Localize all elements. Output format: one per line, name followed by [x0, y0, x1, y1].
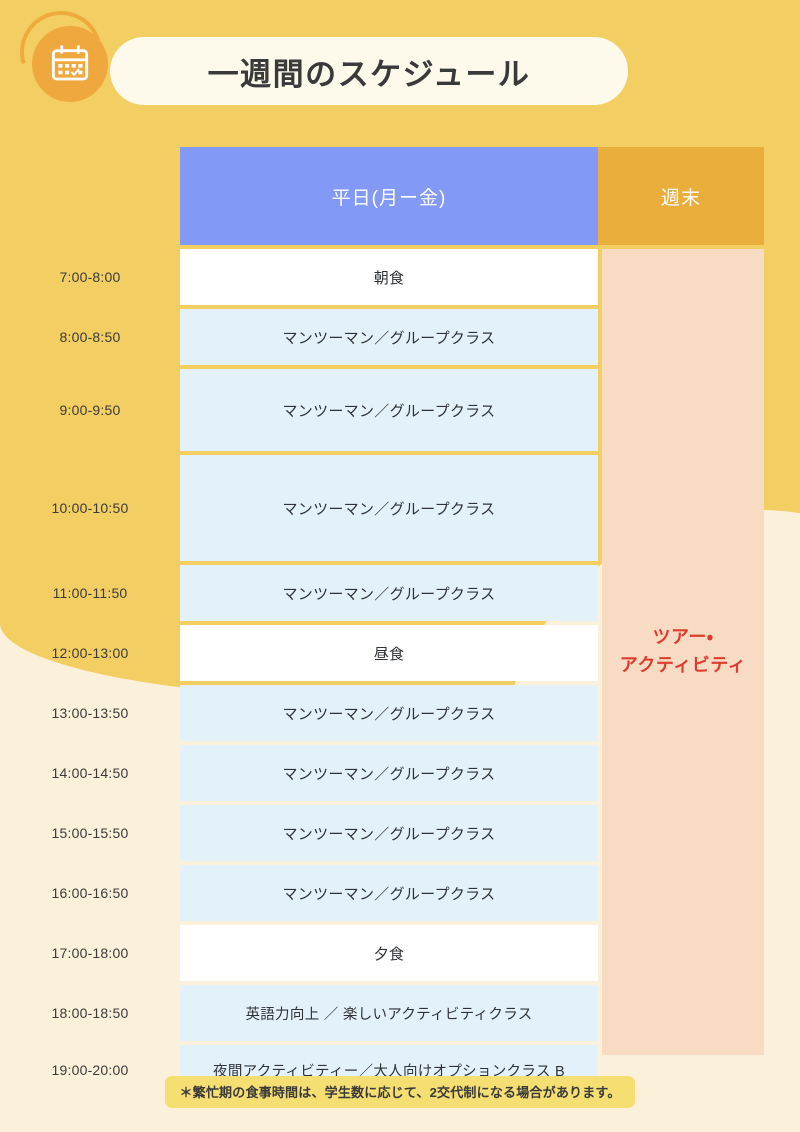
- column-header-weekday-label: 平日(月ー金): [332, 183, 447, 210]
- page-header: 一週間のスケジュール: [0, 0, 800, 140]
- meal-cell: 昼食: [180, 625, 598, 681]
- footer-note: ＊繁忙期の食事時間は、学生数に応じて、2交代制になる場合があります。: [165, 1076, 634, 1108]
- time-label: 9:00-9:50: [0, 369, 180, 451]
- table-row: 14:00-14:50マンツーマン／グループクラス: [0, 745, 598, 801]
- class-cell: マンツーマン／グループクラス: [180, 865, 598, 921]
- class-cell: マンツーマン／グループクラス: [180, 369, 598, 451]
- table-row: 18:00-18:50英語力向上 ／ 楽しいアクティビティクラス: [0, 985, 598, 1041]
- class-cell: 英語力向上 ／ 楽しいアクティビティクラス: [180, 985, 598, 1041]
- class-cell: マンツーマン／グループクラス: [180, 805, 598, 861]
- class-cell: マンツーマン／グループクラス: [180, 745, 598, 801]
- time-label: 15:00-15:50: [0, 805, 180, 861]
- class-cell: マンツーマン／グループクラス: [180, 309, 598, 365]
- class-cell: マンツーマン／グループクラス: [180, 685, 598, 741]
- time-label: 10:00-10:50: [0, 455, 180, 561]
- time-label: 18:00-18:50: [0, 985, 180, 1041]
- schedule-page: 一週間のスケジュール 平日(月ー金) 週末 ツアー・ アクティビティ 7:00-…: [0, 0, 800, 1132]
- class-cell: マンツーマン／グループクラス: [180, 565, 598, 621]
- time-label: 16:00-16:50: [0, 865, 180, 921]
- table-row: 9:00-9:50マンツーマン／グループクラス: [0, 369, 598, 451]
- table-row: 11:00-11:50マンツーマン／グループクラス: [0, 565, 598, 621]
- table-row: 16:00-16:50マンツーマン／グループクラス: [0, 865, 598, 921]
- class-cell: マンツーマン／グループクラス: [180, 455, 598, 561]
- meal-cell: 朝食: [180, 249, 598, 305]
- time-label: 11:00-11:50: [0, 565, 180, 621]
- column-header-weekend-label: 週末: [661, 183, 701, 210]
- column-header-weekday: 平日(月ー金): [180, 147, 598, 245]
- time-label: 13:00-13:50: [0, 685, 180, 741]
- time-label: 8:00-8:50: [0, 309, 180, 365]
- table-header-row: 平日(月ー金) 週末: [180, 147, 764, 245]
- meal-cell: 夕食: [180, 925, 598, 981]
- time-label: 14:00-14:50: [0, 745, 180, 801]
- page-title: 一週間のスケジュール: [208, 49, 531, 94]
- schedule-rows: 7:00-8:00朝食8:00-8:50マンツーマン／グループクラス9:00-9…: [0, 249, 800, 1095]
- calendar-icon: [50, 44, 90, 84]
- table-row: 12:00-13:00昼食: [0, 625, 598, 681]
- footer-note-wrap: ＊繁忙期の食事時間は、学生数に応じて、2交代制になる場合があります。: [0, 1076, 800, 1108]
- calendar-icon-badge: [32, 26, 108, 102]
- page-title-pill: 一週間のスケジュール: [110, 37, 628, 105]
- table-row: 17:00-18:00夕食: [0, 925, 598, 981]
- column-header-weekend: 週末: [598, 147, 764, 245]
- time-label: 12:00-13:00: [0, 625, 180, 681]
- time-label: 17:00-18:00: [0, 925, 180, 981]
- time-label: 7:00-8:00: [0, 249, 180, 305]
- table-row: 10:00-10:50マンツーマン／グループクラス: [0, 455, 598, 561]
- table-row: 7:00-8:00朝食: [0, 249, 598, 305]
- table-row: 8:00-8:50マンツーマン／グループクラス: [0, 309, 598, 365]
- table-row: 13:00-13:50マンツーマン／グループクラス: [0, 685, 598, 741]
- table-row: 15:00-15:50マンツーマン／グループクラス: [0, 805, 598, 861]
